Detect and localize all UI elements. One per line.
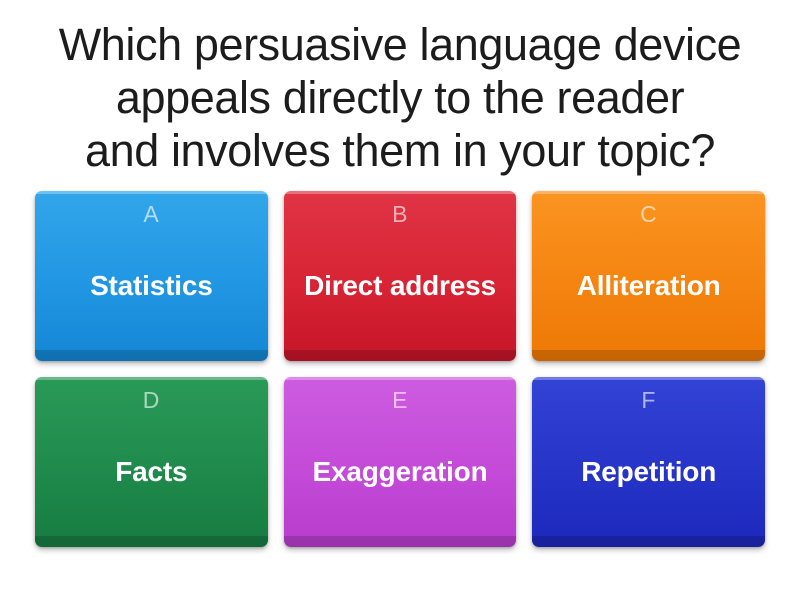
question-text: Which persuasive language device appeals… (22, 18, 778, 177)
answer-label-c: Alliteration (532, 226, 765, 361)
answer-card-f[interactable]: F Repetition (532, 377, 765, 547)
answer-letter-f: F (641, 389, 656, 412)
answer-letter-e: E (392, 389, 408, 412)
answer-card-d[interactable]: D Facts (35, 377, 268, 547)
answer-label-e: Exaggeration (284, 412, 517, 547)
quiz-screen: Which persuasive language device appeals… (0, 0, 800, 600)
question-area: Which persuasive language device appeals… (0, 0, 800, 177)
answer-card-e[interactable]: E Exaggeration (284, 377, 517, 547)
answer-options-grid: A Statistics B Direct address C Allitera… (35, 191, 765, 547)
answer-label-d: Facts (35, 412, 268, 547)
answer-label-b: Direct address (284, 226, 517, 361)
answer-letter-d: D (143, 389, 160, 412)
answer-card-a[interactable]: A Statistics (35, 191, 268, 361)
answer-card-b[interactable]: B Direct address (284, 191, 517, 361)
answer-label-a: Statistics (35, 226, 268, 361)
answer-letter-a: A (143, 203, 159, 226)
answer-card-c[interactable]: C Alliteration (532, 191, 765, 361)
answer-label-f: Repetition (532, 412, 765, 547)
answer-letter-c: C (640, 203, 657, 226)
answer-letter-b: B (392, 203, 408, 226)
